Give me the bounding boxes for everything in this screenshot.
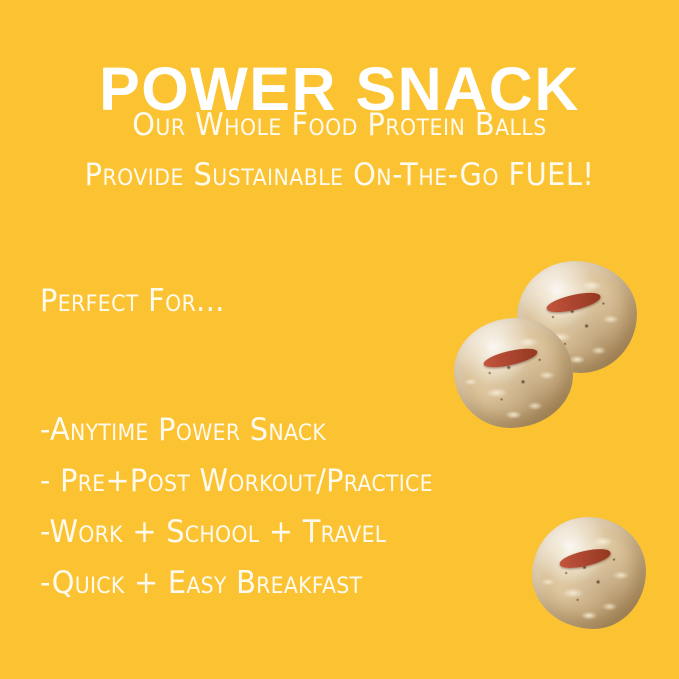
- list-item: - Pre+Post Workout/Practice: [40, 456, 524, 507]
- list-item: -Work + School + Travel: [40, 507, 524, 558]
- product-promo-poster: POWER SNACK Our Whole Food Protein Balls…: [0, 0, 679, 679]
- subtitle-line-2: Provide Sustainable On-The-Go FUEL!: [24, 150, 655, 200]
- section-label-perfect-for: Perfect For...: [40, 283, 225, 319]
- subtitle-block: Our Whole Food Protein Balls Provide Sus…: [0, 100, 679, 200]
- list-item: -Quick + Easy Breakfast: [40, 558, 524, 609]
- list-item: -Anytime Power Snack: [40, 405, 524, 456]
- subtitle-line-1: Our Whole Food Protein Balls: [24, 100, 655, 150]
- protein-ball-single: [532, 517, 646, 629]
- benefits-list: -Anytime Power Snack - Pre+Post Workout/…: [40, 405, 560, 609]
- protein-ball-front: [454, 318, 573, 428]
